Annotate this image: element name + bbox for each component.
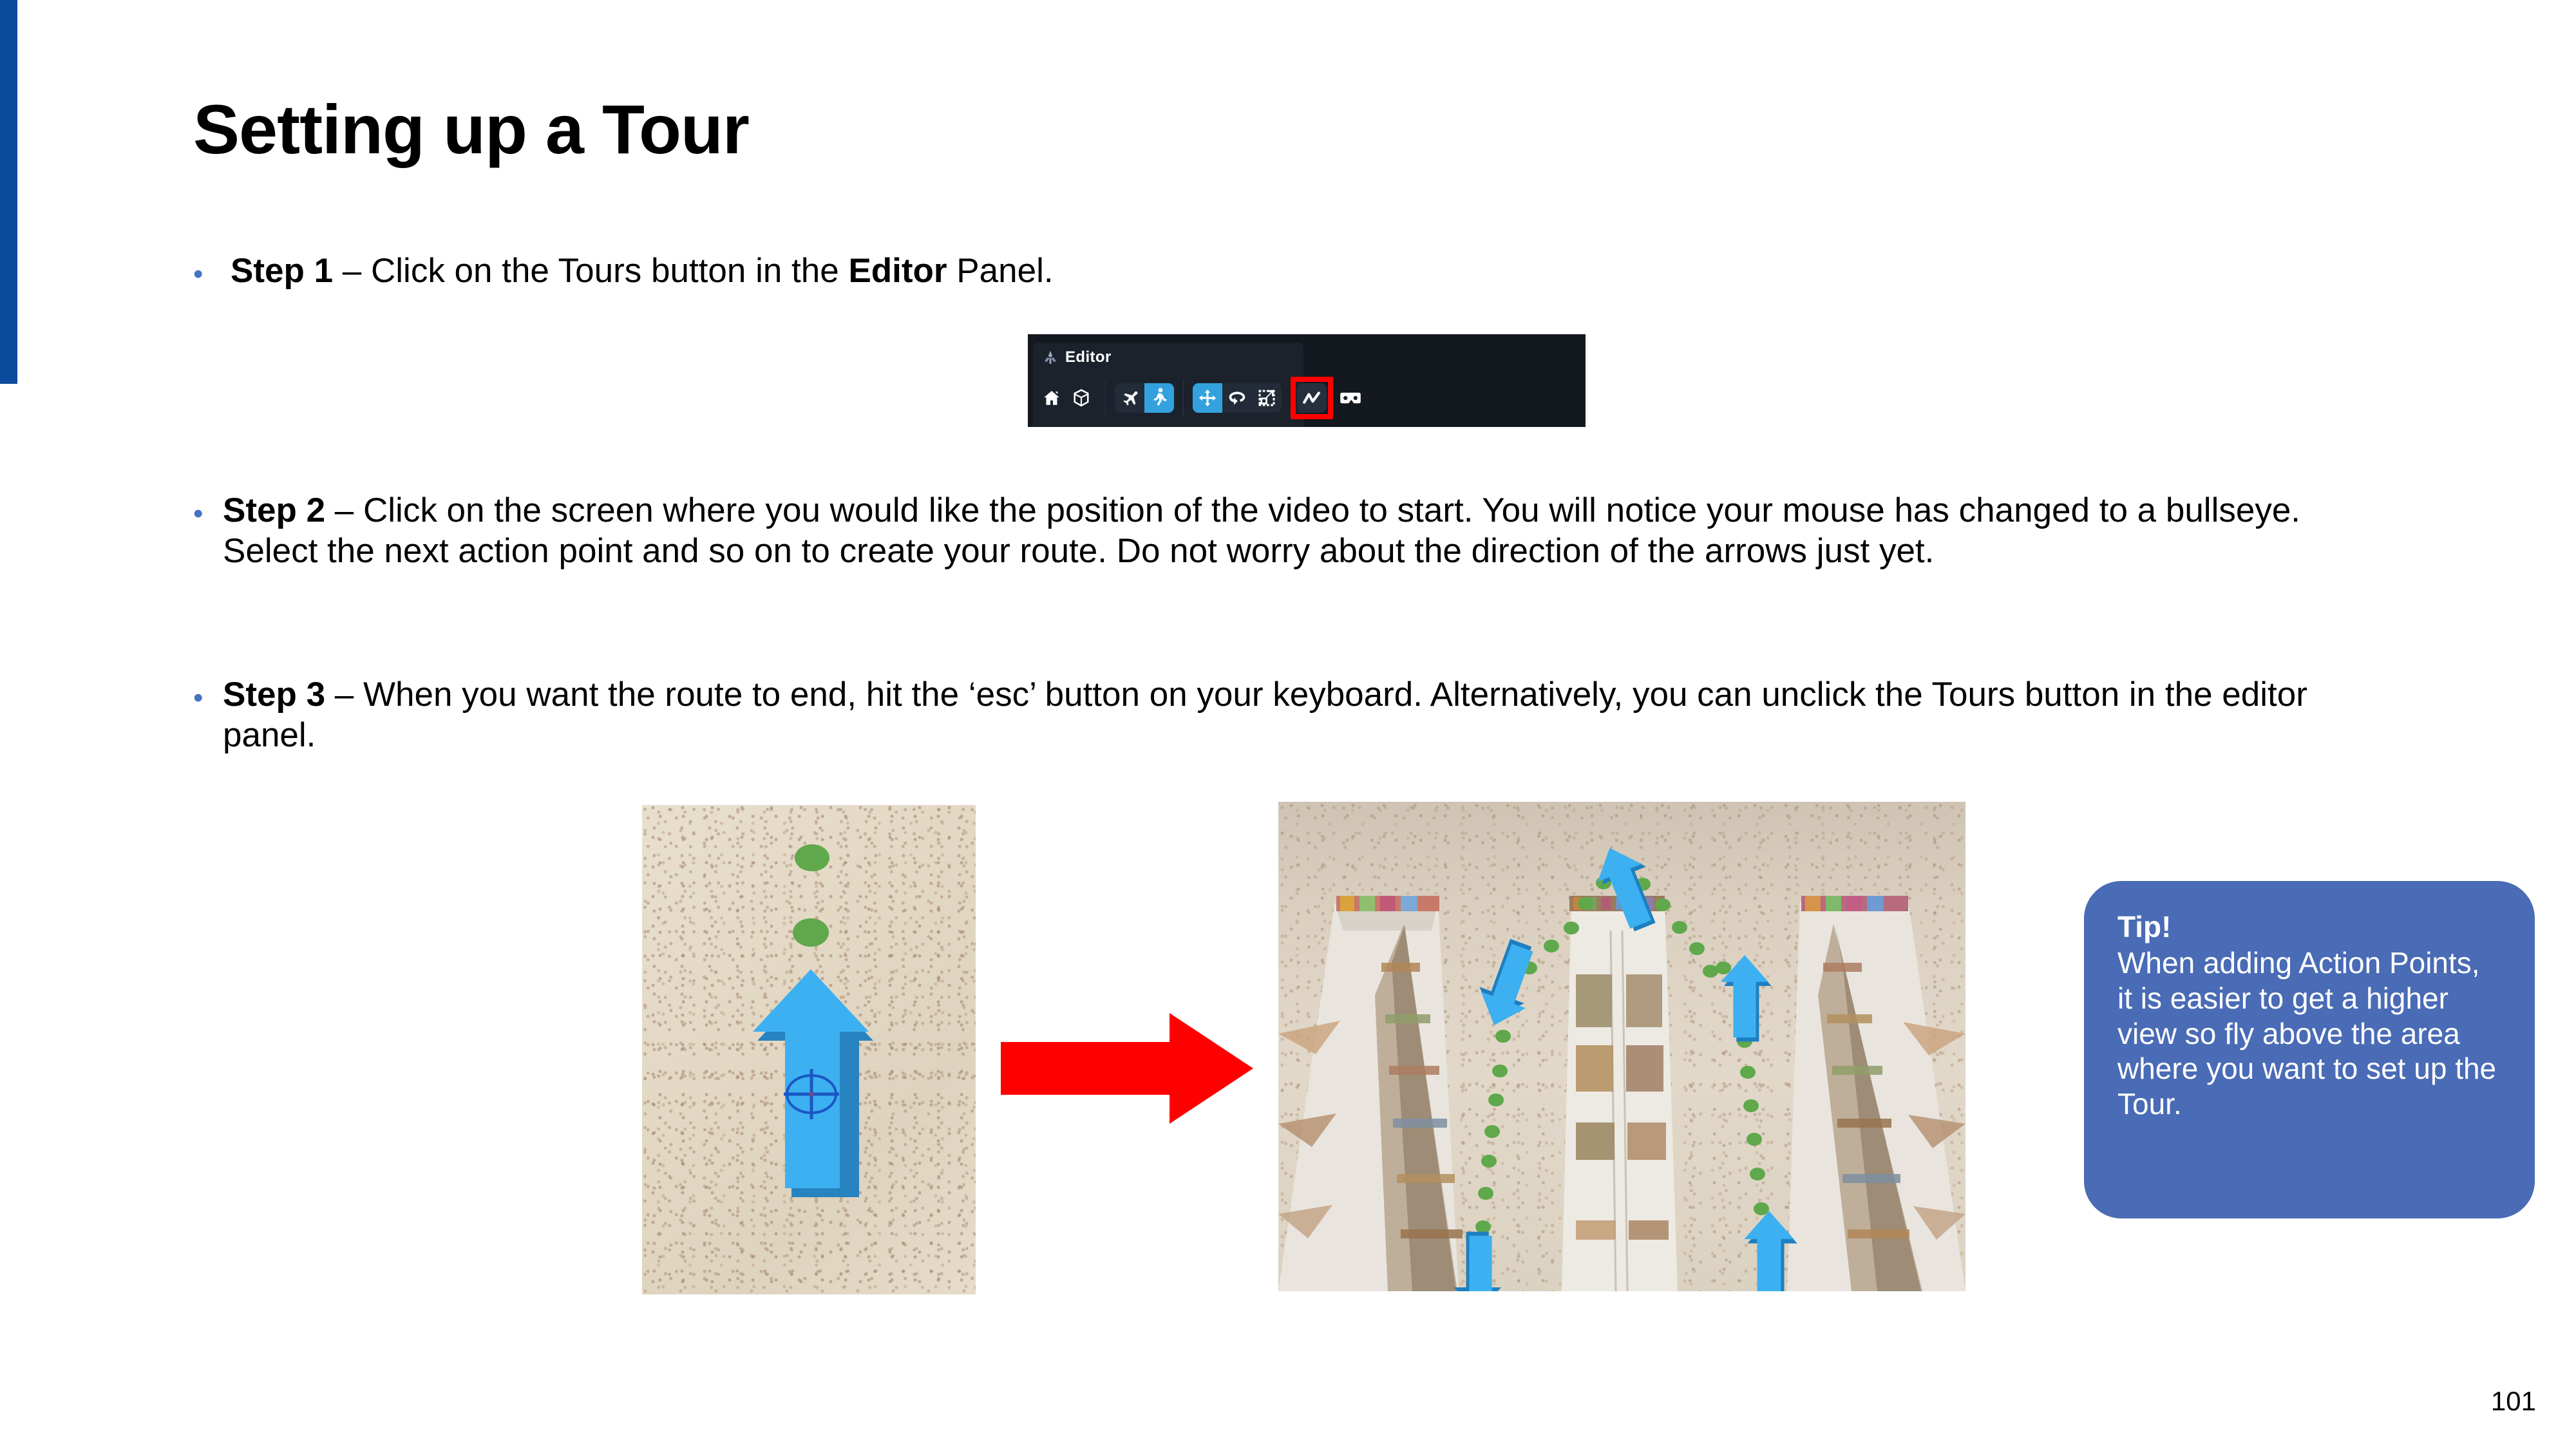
step-3-label: Step 3 [223,676,325,714]
editor-logo-icon [1042,350,1059,366]
list-item-step-3: • Step 3 – When you want the route to en… [193,675,2402,755]
bullet-marker-icon: • [193,491,223,528]
step-3-text: Step 3 – When you want the route to end,… [223,675,2402,755]
toolbar-group-nav [1037,383,1096,413]
toolbar-group-vr [1336,383,1365,413]
walk-icon[interactable] [1144,383,1174,413]
action-point-dot [795,844,829,871]
tours-button-highlight [1291,377,1333,419]
step-1-tail: Panel. [947,252,1054,290]
step-2-body: – Click on the screen where you would li… [223,491,2300,570]
figure-aisle-route [1278,802,1965,1291]
move-icon-glyph [1198,388,1217,408]
rotate-icon-glyph [1227,389,1247,407]
shelf-unit-center [1562,896,1678,1291]
step-1-label: Step 1 [231,252,333,290]
plane-icon-glyph [1120,388,1139,408]
cube-icon-glyph [1072,388,1090,408]
toolbar-group-transform [1193,383,1282,413]
tip-title: Tip! [2117,909,2501,944]
shelf-unit-right [1787,896,1965,1291]
vr-goggles-icon-glyph [1340,390,1361,406]
home-icon-glyph [1042,388,1061,408]
tours-icon-glyph [1302,389,1322,407]
step-1-body: – Click on the Tours button in the [333,252,848,290]
list-item-step-2: • Step 2 – Click on the screen where you… [193,491,2402,571]
page-title: Setting up a Tour [193,91,749,168]
tour-arrow [1469,934,1546,1033]
scale-icon-glyph [1257,388,1276,408]
list-item-step-1: • Step 1 – Click on the Tours button in … [193,251,1868,292]
plane-icon[interactable] [1115,383,1144,413]
editor-panel: Editor [1028,334,1586,427]
action-point-arrow-svg [642,805,976,1294]
toolbar-divider-2 [1183,379,1184,417]
figure-action-point-closeup [642,805,976,1294]
rotate-icon[interactable] [1222,383,1252,413]
step-2-label: Step 2 [223,491,325,529]
step-3-body: – When you want the route to end, hit th… [223,676,2307,754]
walk-icon-glyph [1151,388,1168,408]
tip-callout: Tip! When adding Action Points, it is ea… [2084,881,2535,1218]
cube-icon[interactable] [1066,383,1096,413]
toolbar-divider-1 [1105,379,1106,417]
step-1-emphasis: Editor [848,252,947,290]
slide-accent-bar [0,0,17,384]
step-2-text: Step 2 – Click on the screen where you w… [223,491,2402,571]
tours-icon[interactable] [1297,383,1327,413]
tip-body: When adding Action Points, it is easier … [2117,945,2501,1122]
move-icon[interactable] [1193,383,1222,413]
action-point-dot [793,918,829,947]
home-icon[interactable] [1037,383,1066,413]
shelf-unit-left [1278,896,1463,1291]
editor-toolbar [1037,377,1365,419]
vr-goggles-icon[interactable] [1336,383,1365,413]
bullet-marker-icon: • [193,675,223,712]
toolbar-group-move-mode [1115,383,1174,413]
page-number: 101 [2491,1386,2536,1417]
scale-icon[interactable] [1252,383,1282,413]
step-1-text: Step 1 – Click on the Tours button in th… [223,251,1054,292]
tour-arrow [1454,1232,1504,1291]
bullet-marker-icon: • [193,251,223,289]
transition-arrow-icon [1001,1013,1253,1124]
editor-title-label: Editor [1065,349,1112,366]
aisle-scene-svg [1278,802,1965,1291]
